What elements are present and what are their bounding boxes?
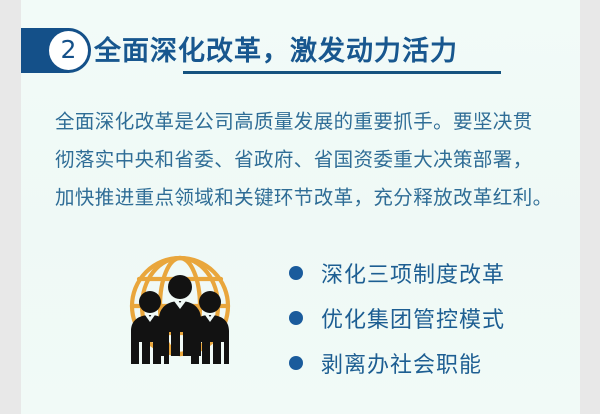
section-number-badge: 2	[21, 28, 91, 73]
content-card: 2 全面深化改革，激发动力活力 全面深化改革是公司高质量发展的重要抓手。要坚决贯…	[21, 0, 580, 414]
paragraph-line: 全面深化改革是公司高质量发展的重要抓手。要坚决贯	[55, 103, 565, 141]
section-header: 2 全面深化改革，激发动力活力	[21, 28, 580, 84]
bullet-list: 深化三项制度改革 优化集团管控模式 剥离办社会职能	[289, 250, 505, 385]
list-item[interactable]: 深化三项制度改革	[289, 250, 505, 295]
bullet-dot-icon	[289, 311, 303, 325]
bullet-dot-icon	[289, 266, 303, 280]
badge-circle: 2	[49, 31, 88, 70]
page-title: 全面深化改革，激发动力活力	[94, 29, 458, 68]
list-item[interactable]: 优化集团管控模式	[289, 295, 505, 340]
infographic-page: 2 全面深化改革，激发动力活力 全面深化改革是公司高质量发展的重要抓手。要坚决贯…	[0, 0, 600, 414]
badge-number-label: 2	[61, 37, 77, 62]
globe-people-icon	[119, 248, 241, 370]
body-paragraph: 全面深化改革是公司高质量发展的重要抓手。要坚决贯 彻落实中央和省委、省政府、省国…	[55, 103, 565, 217]
list-item-label: 剥离办社会职能	[321, 347, 482, 379]
list-item-label: 优化集团管控模式	[321, 302, 505, 334]
paragraph-line: 加快推进重点领域和关键环节改革，充分释放改革红利。	[55, 179, 565, 217]
bullet-dot-icon	[289, 356, 303, 370]
list-item-label: 深化三项制度改革	[321, 257, 505, 289]
list-item[interactable]: 剥离办社会职能	[289, 340, 505, 385]
title-underline-rule	[183, 71, 501, 74]
paragraph-line: 彻落实中央和省委、省政府、省国资委重大决策部署，	[55, 141, 565, 179]
